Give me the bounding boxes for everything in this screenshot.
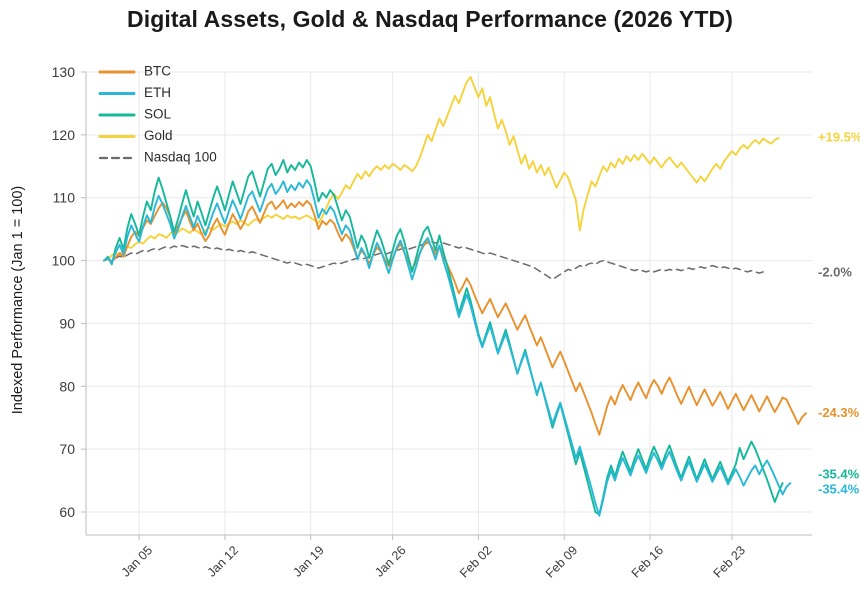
y-tick-label-70: 70 bbox=[59, 441, 75, 457]
end-label-eth: -35.4% bbox=[818, 482, 860, 497]
y-tick-label-60: 60 bbox=[59, 504, 75, 520]
y-tick-label-80: 80 bbox=[59, 378, 75, 394]
series-line-btc bbox=[104, 200, 806, 434]
legend-label-eth[interactable]: ETH bbox=[144, 85, 171, 100]
x-tick-label-feb-02: Feb 02 bbox=[457, 543, 494, 580]
legend-label-nasdaq-100[interactable]: Nasdaq 100 bbox=[144, 150, 217, 165]
end-label-btc: -24.3% bbox=[818, 405, 860, 420]
chart-container: Digital Assets, Gold & Nasdaq Performanc… bbox=[0, 0, 860, 591]
y-tick-label-100: 100 bbox=[52, 253, 76, 269]
chart-legend: BTCETHSOLGoldNasdaq 100 bbox=[100, 64, 217, 165]
x-axis-ticks: Jan 05Jan 12Jan 19Jan 26Feb 02Feb 09Feb … bbox=[119, 535, 748, 581]
series-line-eth bbox=[104, 180, 790, 516]
y-tick-label-130: 130 bbox=[52, 64, 76, 80]
x-tick-label-jan-26: Jan 26 bbox=[372, 543, 408, 579]
end-label-nasdaq-100: -2.0% bbox=[818, 265, 852, 280]
x-tick-label-jan-19: Jan 19 bbox=[290, 543, 326, 579]
end-label-sol: -35.4% bbox=[818, 467, 860, 482]
legend-label-btc[interactable]: BTC bbox=[144, 64, 171, 79]
x-tick-label-feb-23: Feb 23 bbox=[711, 543, 748, 580]
legend-label-gold[interactable]: Gold bbox=[144, 128, 173, 143]
legend-label-sol[interactable]: SOL bbox=[144, 107, 172, 122]
y-tick-label-120: 120 bbox=[52, 127, 76, 143]
y-tick-label-90: 90 bbox=[59, 315, 75, 331]
y-tick-label-110: 110 bbox=[53, 190, 76, 206]
data-series-group bbox=[104, 77, 806, 516]
end-label-gold: +19.5% bbox=[818, 129, 860, 144]
series-end-labels: +19.5%-2.0%-24.3%-35.4%-35.4% bbox=[818, 129, 860, 496]
y-axis-label: Indexed Performance (Jan 1 = 100) bbox=[10, 186, 26, 415]
x-tick-label-feb-09: Feb 09 bbox=[543, 543, 580, 580]
line-chart-plot: 60708090100110120130 Jan 05Jan 12Jan 19J… bbox=[0, 0, 860, 591]
x-tick-label-feb-16: Feb 16 bbox=[629, 543, 666, 580]
y-axis-ticks: 60708090100110120130 bbox=[52, 64, 86, 520]
x-tick-label-jan-05: Jan 05 bbox=[119, 543, 155, 579]
x-tick-label-jan-12: Jan 12 bbox=[205, 543, 241, 579]
series-line-sol bbox=[104, 160, 783, 515]
